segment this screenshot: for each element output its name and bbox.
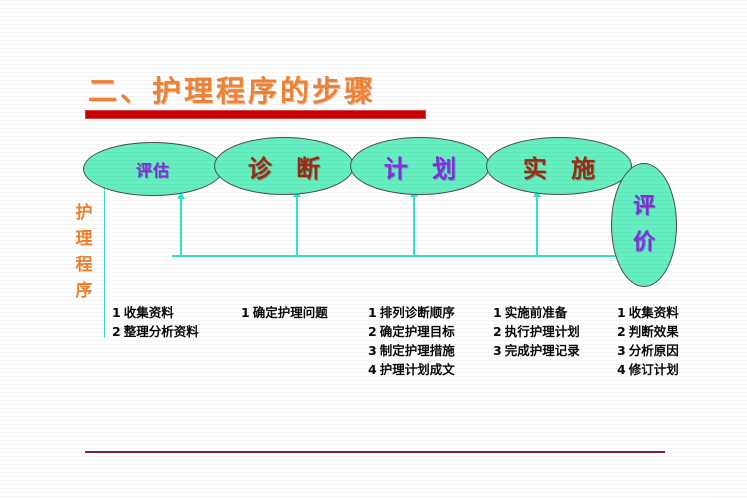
- list-item-text: 制定护理措施: [380, 343, 455, 358]
- detail-column-implement: 1实施前准备 2执行护理计划 3完成护理记录: [493, 303, 580, 360]
- list-item-number: 2: [617, 324, 626, 339]
- detail-column-evaluate: 1收集资料 2判断效果 3分析原因 4修订计划: [617, 303, 679, 379]
- process-step-diagnose[interactable]: 诊 断: [214, 137, 354, 195]
- list-item-number: 3: [617, 343, 626, 358]
- connector-riser-2: [296, 194, 298, 256]
- list-item: 2整理分析资料: [112, 322, 199, 341]
- list-item: 4护理计划成文: [368, 360, 455, 379]
- list-item: 3分析原因: [617, 341, 679, 360]
- slide-canvas: 二、护理程序的步骤 护 理 程 序 评估 诊 断 计 划 实 施 评 价 1收集…: [0, 0, 747, 499]
- process-step-assess[interactable]: 评估: [83, 142, 223, 196]
- list-item-text: 完成护理记录: [505, 343, 580, 358]
- list-item-number: 2: [493, 324, 502, 339]
- connector-riser-4: [536, 194, 538, 256]
- left-caption-char-3: 程: [72, 252, 96, 278]
- list-item-number: 2: [368, 324, 377, 339]
- left-caption-char-4: 序: [72, 278, 96, 304]
- title-underline-bar: [85, 110, 426, 119]
- list-item: 3完成护理记录: [493, 341, 580, 360]
- list-item-text: 修订计划: [629, 362, 679, 377]
- detail-column-assess: 1收集资料 2整理分析资料: [112, 303, 199, 341]
- list-item: 3制定护理措施: [368, 341, 455, 360]
- list-item-number: 1: [368, 305, 377, 320]
- list-item: 4修订计划: [617, 360, 679, 379]
- list-item-number: 3: [493, 343, 502, 358]
- detail-column-plan: 1排列诊断顺序 2确定护理目标 3制定护理措施 4护理计划成文: [368, 303, 455, 379]
- left-caption-char-2: 理: [72, 226, 96, 252]
- page-title: 二、护理程序的步骤: [88, 68, 376, 110]
- list-item: 1实施前准备: [493, 303, 580, 322]
- list-item: 1收集资料: [617, 303, 679, 322]
- feedback-bus-line: [172, 255, 630, 257]
- connector-riser-1: [180, 196, 182, 256]
- list-item-number: 1: [112, 305, 121, 320]
- list-item: 1收集资料: [112, 303, 199, 322]
- process-step-implement-label: 实 施: [515, 149, 603, 184]
- list-item-number: 2: [112, 324, 121, 339]
- list-item-text: 分析原因: [629, 343, 679, 358]
- list-item: 1排列诊断顺序: [368, 303, 455, 322]
- list-item: 1确定护理问题: [241, 303, 328, 322]
- list-item-text: 排列诊断顺序: [380, 305, 455, 320]
- list-item-text: 判断效果: [629, 324, 679, 339]
- left-vertical-caption: 护 理 程 序: [72, 200, 96, 304]
- process-step-implement[interactable]: 实 施: [486, 137, 632, 195]
- left-caption-char-1: 护: [72, 200, 96, 226]
- list-item-text: 实施前准备: [505, 305, 568, 320]
- list-item-number: 1: [493, 305, 502, 320]
- list-item-text: 确定护理目标: [380, 324, 455, 339]
- list-item-text: 收集资料: [629, 305, 679, 320]
- list-item-text: 整理分析资料: [124, 324, 199, 339]
- process-step-plan-label: 计 划: [376, 149, 464, 184]
- list-item: 2执行护理计划: [493, 322, 580, 341]
- list-item-number: 1: [241, 305, 250, 320]
- process-step-evaluate-label-char-1: 评: [633, 189, 655, 225]
- bottom-divider-rule: [85, 451, 665, 453]
- list-item-number: 3: [368, 343, 377, 358]
- connector-riser-3: [413, 194, 415, 256]
- list-item-text: 确定护理问题: [253, 305, 328, 320]
- left-vertical-axis-line: [104, 168, 105, 338]
- list-item-number: 4: [368, 362, 377, 377]
- list-item: 2确定护理目标: [368, 322, 455, 341]
- list-item-number: 1: [617, 305, 626, 320]
- process-step-evaluate[interactable]: 评 价: [611, 163, 677, 287]
- process-step-evaluate-label-char-2: 价: [633, 225, 655, 261]
- process-step-assess-label: 评估: [136, 157, 170, 181]
- list-item-text: 执行护理计划: [505, 324, 580, 339]
- list-item: 2判断效果: [617, 322, 679, 341]
- list-item-text: 收集资料: [124, 305, 174, 320]
- list-item-number: 4: [617, 362, 626, 377]
- process-step-plan[interactable]: 计 划: [350, 137, 490, 195]
- list-item-text: 护理计划成文: [380, 362, 455, 377]
- detail-column-diagnose: 1确定护理问题: [241, 303, 328, 322]
- process-step-diagnose-label: 诊 断: [240, 149, 328, 184]
